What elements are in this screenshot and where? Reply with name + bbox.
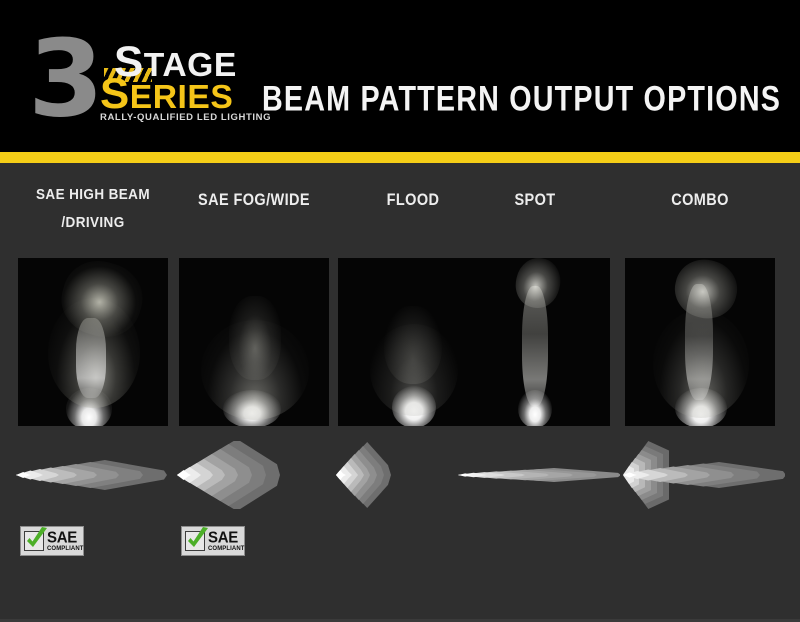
beam-column-spot: SPOT: [460, 163, 610, 619]
beam-light-glow: [511, 258, 564, 312]
beam-light-glow: [384, 306, 442, 384]
logo-word-series: SERIES: [100, 78, 233, 113]
page-title: BEAM PATTERN OUTPUT OPTIONS: [262, 79, 781, 120]
beam-column-combo: COMBO: [625, 163, 775, 619]
beam-comparison-grid: SAE HIGH BEAM/DRIVINGSAECOMPLIANTSAE FOG…: [0, 163, 800, 619]
beam-light-glow: [76, 318, 106, 398]
sae-badge-sub-text: COMPLIANT: [47, 546, 84, 552]
sae-compliant-badge: SAECOMPLIANT: [20, 526, 84, 556]
column-label: COMBO: [607, 187, 793, 215]
yellow-divider: [0, 152, 800, 163]
logo-tagline: RALLY-QUALIFIED LED LIGHTING: [100, 112, 271, 123]
beam-spread-diagram: [615, 441, 785, 509]
beam-spread-diagram: [450, 441, 620, 509]
header-banner: 3 STAGE SERIES RALLY-QUALIFIED LED LIGHT…: [0, 0, 800, 152]
beam-column-fog-wide: SAE FOG/WIDESAECOMPLIANT: [179, 163, 329, 619]
beam-photo-fog-wide: [179, 258, 329, 426]
beam-profile-diagram: [615, 441, 785, 509]
sae-badge-sub-text: COMPLIANT: [208, 546, 245, 552]
column-label: SPOT: [442, 187, 628, 215]
logo-word-stage: STAGE: [114, 46, 237, 81]
beam-spread-diagram: [169, 441, 339, 509]
logo-numeral: 3: [28, 30, 100, 128]
sae-badge-main-text: SAE: [208, 530, 245, 546]
sae-badge-main-text: SAE: [47, 530, 84, 546]
beam-spread-diagram: [8, 441, 178, 509]
sae-compliant-badge: SAECOMPLIANT: [181, 526, 245, 556]
column-label-line2: /DRIVING: [61, 214, 124, 231]
checkmark-icon: [185, 531, 205, 551]
column-label: SAE HIGH BEAM/DRIVING: [0, 180, 186, 236]
beam-profile-diagram: [450, 441, 620, 509]
checkmark-icon: [24, 531, 44, 551]
sae-badge-text: SAECOMPLIANT: [47, 530, 84, 552]
beam-photo-combo: [625, 258, 775, 426]
beam-light-glow: [229, 296, 281, 380]
sae-badge-text: SAECOMPLIANT: [208, 530, 245, 552]
brand-logo: 3 STAGE SERIES RALLY-QUALIFIED LED LIGHT…: [22, 28, 252, 128]
beam-profile-diagram: [8, 441, 178, 509]
beam-photo-high-beam-driving: [18, 258, 168, 426]
beam-photo-spot: [460, 258, 610, 426]
beam-column-high-beam-driving: SAE HIGH BEAM/DRIVINGSAECOMPLIANT: [18, 163, 168, 619]
beam-profile-diagram: [169, 441, 339, 509]
